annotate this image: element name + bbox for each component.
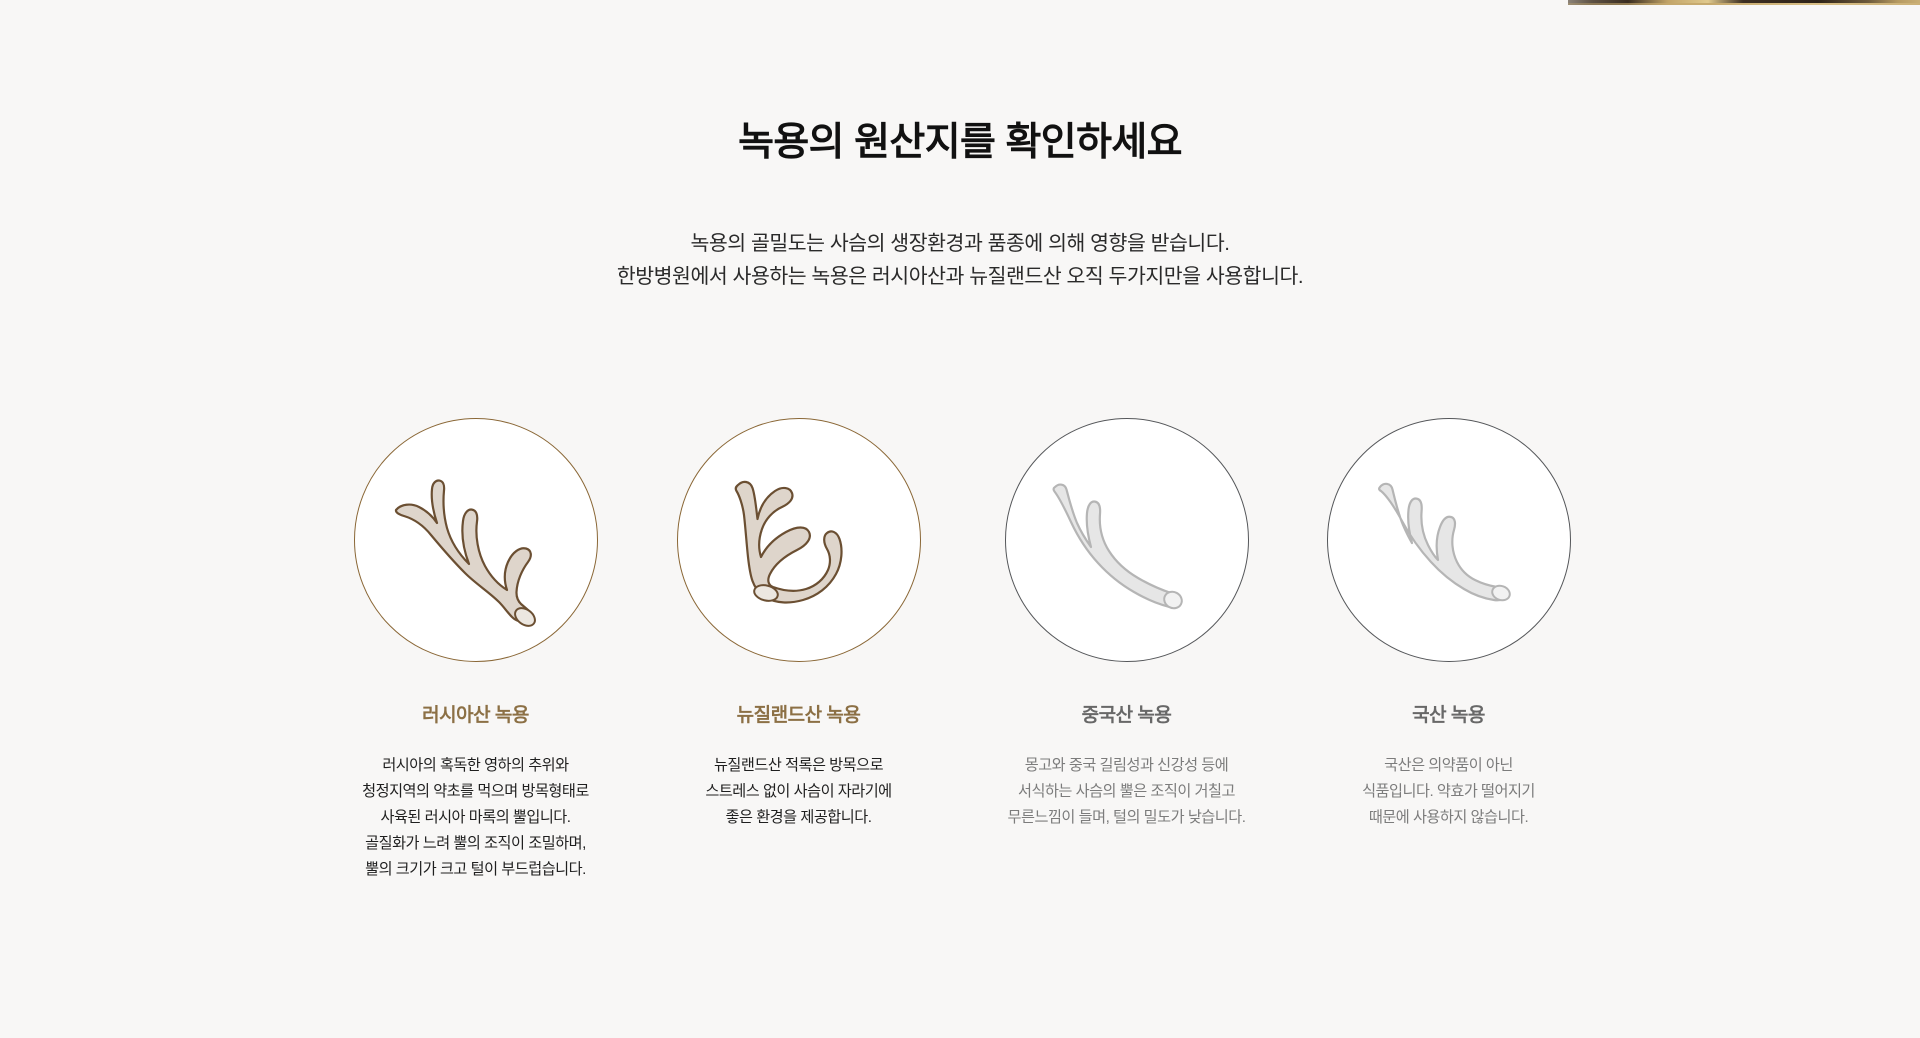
desc-line: 식품입니다. 약효가 떨어지기 [1362,779,1535,805]
page-subtitle: 녹용의 골밀도는 사슴의 생장환경과 품종에 의해 영향을 받습니다. 한방병원… [0,227,1920,293]
subtitle-line-1: 녹용의 골밀도는 사슴의 생장환경과 품종에 의해 영향을 받습니다. [0,227,1920,260]
desc-line: 좋은 환경을 제공합니다. [705,805,891,831]
desc-line: 무른느낌이 들며, 털의 밀도가 낮습니다. [1008,805,1246,831]
desc-line: 뉴질랜드산 적록은 방목으로 [705,753,891,779]
card-desc-russia: 러시아의 혹독한 영하의 추위와 청정지역의 약초를 먹으며 방목형태로 사육된… [362,753,589,884]
desc-line: 서식하는 사슴의 뿔은 조직이 거칠고 [1008,779,1246,805]
antler-domestic-icon [1327,418,1571,662]
origin-card-russia: 러시아산 녹용 러시아의 혹독한 영하의 추위와 청정지역의 약초를 먹으며 방… [322,418,630,883]
desc-line: 러시아의 혹독한 영하의 추위와 [362,753,589,779]
desc-line: 때문에 사용하지 않습니다. [1362,805,1535,831]
page-title: 녹용의 원산지를 확인하세요 [0,118,1920,169]
card-desc-new-zealand: 뉴질랜드산 적록은 방목으로 스트레스 없이 사슴이 자라기에 좋은 환경을 제… [705,753,891,831]
desc-line: 몽고와 중국 길림성과 신강성 등에 [1008,753,1246,779]
page-root: 녹용의 원산지를 확인하세요 녹용의 골밀도는 사슴의 생장환경과 품종에 의해… [0,0,1920,1038]
header: 녹용의 원산지를 확인하세요 녹용의 골밀도는 사슴의 생장환경과 품종에 의해… [0,0,1920,293]
desc-line: 스트레스 없이 사슴이 자라기에 [705,779,891,805]
card-desc-domestic: 국산은 의약품이 아닌 식품입니다. 약효가 떨어지기 때문에 사용하지 않습니… [1362,753,1535,831]
origin-card-list: 러시아산 녹용 러시아의 혹독한 영하의 추위와 청정지역의 약초를 먹으며 방… [0,418,1920,883]
card-title-russia: 러시아산 녹용 [422,704,529,729]
desc-line: 청정지역의 약초를 먹으며 방목형태로 [362,779,589,805]
card-title-new-zealand: 뉴질랜드산 녹용 [737,704,861,729]
desc-line: 골질화가 느려 뿔의 조직이 조밀하며, [362,831,589,857]
desc-line: 사육된 러시아 마록의 뿔입니다. [362,805,589,831]
card-desc-china: 몽고와 중국 길림성과 신강성 등에 서식하는 사슴의 뿔은 조직이 거칠고 무… [1008,753,1246,831]
desc-line: 뿔의 크기가 크고 털이 부드럽습니다. [362,857,589,883]
origin-card-china: 중국산 녹용 몽고와 중국 길림성과 신강성 등에 서식하는 사슴의 뿔은 조직… [977,418,1277,831]
antler-russia-icon [354,418,598,662]
card-title-domestic: 국산 녹용 [1412,704,1485,729]
top-edge-strip [1568,0,1920,5]
origin-card-domestic: 국산 녹용 국산은 의약품이 아닌 식품입니다. 약효가 떨어지기 때문에 사용… [1299,418,1599,831]
antler-china-icon [1005,418,1249,662]
card-title-china: 중국산 녹용 [1082,704,1172,729]
antler-new-zealand-icon [677,418,921,662]
desc-line: 국산은 의약품이 아닌 [1362,753,1535,779]
subtitle-line-2: 한방병원에서 사용하는 녹용은 러시아산과 뉴질랜드산 오직 두가지만을 사용합… [0,260,1920,293]
origin-card-new-zealand: 뉴질랜드산 녹용 뉴질랜드산 적록은 방목으로 스트레스 없이 사슴이 자라기에… [649,418,949,831]
